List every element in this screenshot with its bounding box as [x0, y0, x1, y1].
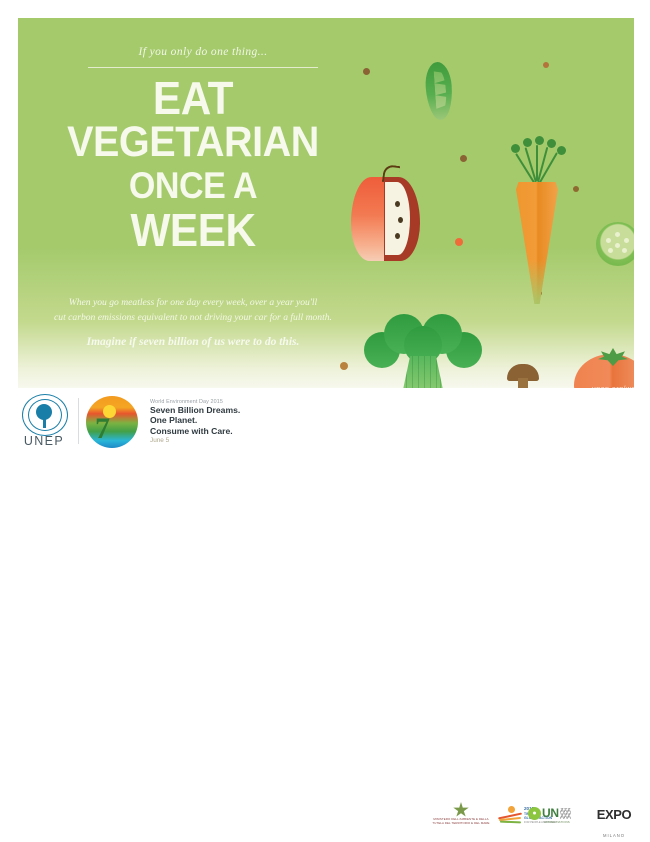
partner-expo-milano[interactable]: EXPO MILANO: [588, 806, 640, 842]
footer-divider: [78, 398, 79, 444]
un-wordmark: UN: [542, 806, 559, 820]
headline-line-4: WEEK: [41, 208, 345, 252]
wed-roundel-icon: 7: [86, 396, 138, 448]
cucumber-seed: [615, 243, 620, 248]
partner-ministry-environment-italy[interactable]: MINISTERO DELL'AMBIENTE E DELLA TUTELA D…: [432, 802, 490, 825]
expo-sub: MILANO: [603, 833, 625, 838]
expo-wordmark: EXPO: [597, 807, 632, 822]
partner-united-nations[interactable]: ● UN UNITED NATIONS: [528, 806, 586, 825]
divider-rule: [88, 67, 318, 68]
carrot-leaf-bulb: [511, 144, 520, 153]
decorative-dot: [460, 155, 467, 162]
headline-line-1: EAT: [41, 76, 345, 120]
footer-bar: UNEP 7 World Environment Day 2015 Seven …: [0, 390, 650, 459]
apple-seed: [398, 217, 403, 223]
headline-line-3: ONCE A: [41, 164, 345, 208]
cucumber-seed: [622, 248, 627, 253]
carrot-leaf-bulb: [523, 138, 532, 147]
un-icon: ● UN: [528, 806, 586, 820]
mushroom-illustration: [507, 364, 539, 388]
broccoli-stalk: [400, 356, 446, 388]
mushroom-stem: [518, 378, 528, 388]
poster-artwork: unep.org/wed If you only do one thing...…: [18, 18, 634, 388]
decorative-dot: [455, 238, 463, 246]
decorative-dot: [340, 362, 348, 370]
wed-headline-3: Consume with Care.: [150, 426, 265, 436]
partner-logos: MINISTERO DELL'AMBIENTE E DELLA TUTELA D…: [432, 798, 642, 840]
unep-wordmark: UNEP: [16, 434, 72, 448]
un-hatch-icon: [560, 808, 571, 819]
cucumber-seed: [624, 238, 629, 243]
cucumber-seed: [615, 232, 620, 237]
apple-skin-half: [351, 177, 385, 261]
apple-illustration: [351, 165, 419, 261]
body-line-2: cut carbon emissions equivalent to not d…: [38, 310, 348, 325]
un-caption: UNITED NATIONS: [528, 821, 586, 825]
imagine-statement: Imagine if seven billion of us were to d…: [38, 336, 348, 348]
broccoli-illustration: [364, 312, 482, 388]
wed-seven-glyph: 7: [95, 414, 129, 446]
body-copy: When you go meatless for one day every w…: [38, 295, 348, 325]
unep-stem-icon: [43, 414, 46, 428]
pea-pod-illustration: [424, 61, 454, 121]
cucumber-seed: [606, 238, 611, 243]
wed-date: June 5: [150, 437, 265, 444]
tomato-illustration: [574, 348, 634, 388]
carrot-leaf-bulb: [535, 136, 544, 145]
decorative-dot: [573, 186, 579, 192]
star-icon: [453, 802, 469, 818]
decorative-dot: [543, 62, 549, 68]
carrot-leaf-bulb: [547, 139, 556, 148]
unep-logo: UNEP: [16, 394, 72, 450]
partner-caption: MINISTERO DELL'AMBIENTE E DELLA TUTELA D…: [432, 818, 490, 825]
carrot-leaf-bulb: [557, 146, 566, 155]
campaign-url[interactable]: unep.org/wed: [581, 384, 634, 388]
poster-page: unep.org/wed If you only do one thing...…: [0, 0, 650, 459]
body-line-1: When you go meatless for one day every w…: [38, 295, 348, 310]
page-title: EAT VEGETARIAN ONCE A WEEK: [41, 76, 345, 252]
carrot-root: [516, 182, 558, 304]
decorative-dot: [363, 68, 370, 75]
apple-seed: [395, 201, 400, 207]
expo-icon: EXPO: [588, 806, 640, 824]
wed-campaign-text: World Environment Day 2015 Seven Billion…: [150, 399, 265, 444]
headline-line-2: VEGETARIAN: [41, 120, 345, 164]
carrot-illustration: [504, 134, 570, 304]
cucumber-slice-illustration: [596, 222, 634, 266]
wed-headline-2: One Planet.: [150, 415, 265, 425]
cucumber-seed: [608, 248, 613, 253]
un-globe-icon: ●: [528, 807, 541, 820]
apple-stem: [382, 164, 400, 184]
kicker-text: If you only do one thing...: [88, 46, 318, 58]
wed-headline-1: Seven Billion Dreams.: [150, 405, 265, 415]
apple-seed: [395, 233, 400, 239]
